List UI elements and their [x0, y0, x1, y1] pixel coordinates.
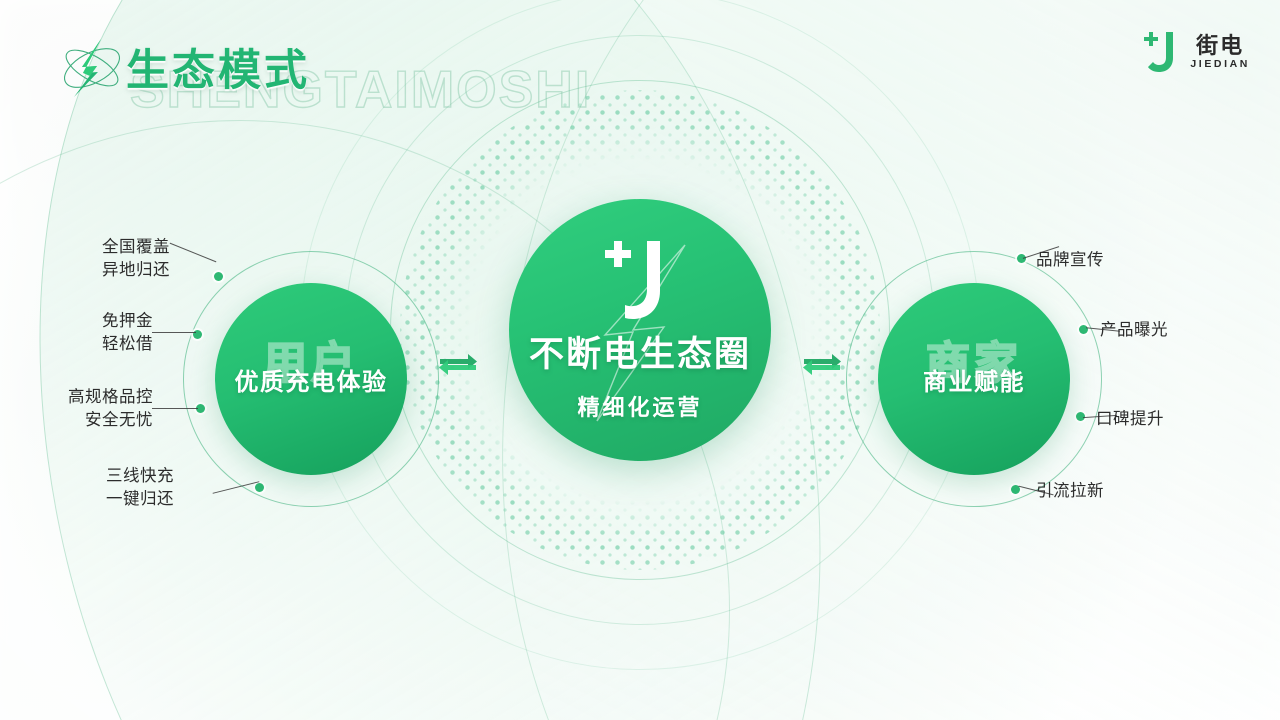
center-node-subtitle: 精细化运营	[509, 390, 771, 422]
left-satellite-label-2: 免押金 轻松借	[0, 310, 215, 357]
right-satellite-label-3-line1: 口碑提升	[1096, 408, 1164, 431]
brand-text: 街电 JIEDIAN	[1190, 34, 1250, 69]
slide-header: SHENGTAIMOSHI 生态模式 街电 JIEDIAN	[0, 0, 1280, 118]
brand-name-en: JIEDIAN	[1190, 58, 1250, 70]
right-node-title: 商业赋能	[878, 362, 1070, 397]
right-satellite-label-2: 产品曝光	[1100, 319, 1168, 342]
left-satellite-label-1-line1: 全国覆盖	[0, 236, 170, 259]
right-satellite-label-1-line1: 品牌宣传	[1036, 249, 1104, 272]
left-node-title: 优质充电体验	[215, 362, 407, 397]
right-satellite-label-4: 引流拉新	[1036, 480, 1104, 503]
left-node-users[interactable]: 用户 优质充电体验	[215, 283, 407, 475]
left-satellite-label-1: 全国覆盖 异地归还	[0, 236, 260, 283]
left-satellite-label-3: 高规格品控 安全无忧	[0, 386, 215, 433]
right-satellite-label-3: 口碑提升	[1096, 408, 1164, 431]
left-node-content: 优质充电体验	[215, 362, 407, 397]
left-satellite-label-3-line2: 安全无忧	[0, 409, 153, 432]
page-title-group: SHENGTAIMOSHI 生态模式	[126, 36, 310, 98]
page-title: 生态模式	[126, 36, 310, 98]
left-satellite-label-4: 三线快充 一键归还	[0, 465, 258, 512]
exchange-arrow-icon-left	[436, 350, 480, 380]
right-satellite-label-2-line1: 产品曝光	[1100, 319, 1168, 342]
brand-logo: 街电 JIEDIAN	[1141, 30, 1250, 74]
left-satellite-label-2-line1: 免押金	[0, 310, 153, 333]
center-node-content: 不断电生态圈 精细化运营	[509, 238, 771, 422]
right-satellite-label-4-line1: 引流拉新	[1036, 480, 1104, 503]
center-node-title: 不断电生态圈	[509, 326, 771, 377]
left-satellite-label-1-line2: 异地归还	[0, 259, 170, 282]
lightning-bolt-icon	[57, 33, 127, 103]
exchange-arrow-icon-right	[800, 350, 844, 380]
left-satellite-label-3-line1: 高规格品控	[0, 386, 153, 409]
right-node-merchants[interactable]: 商家 商业赋能	[878, 283, 1070, 475]
plus-j-logo-icon	[603, 238, 677, 322]
left-satellite-label-4-line1: 三线快充	[0, 465, 174, 488]
jiedian-plus-j-logo-icon	[1141, 30, 1181, 74]
right-satellite-label-1: 品牌宣传	[1036, 249, 1104, 272]
left-satellite-label-4-line2: 一键归还	[0, 488, 174, 511]
right-satellite-dot-1[interactable]	[1017, 254, 1026, 263]
right-node-content: 商业赋能	[878, 362, 1070, 397]
center-node-ecosystem[interactable]: 不断电生态圈 精细化运营	[509, 199, 771, 461]
slide-canvas: SHENGTAIMOSHI 生态模式 街电 JIEDIAN 全国覆盖 异地归还	[0, 0, 1280, 720]
left-satellite-label-2-line2: 轻松借	[0, 333, 153, 356]
brand-name-cn: 街电	[1196, 34, 1244, 57]
